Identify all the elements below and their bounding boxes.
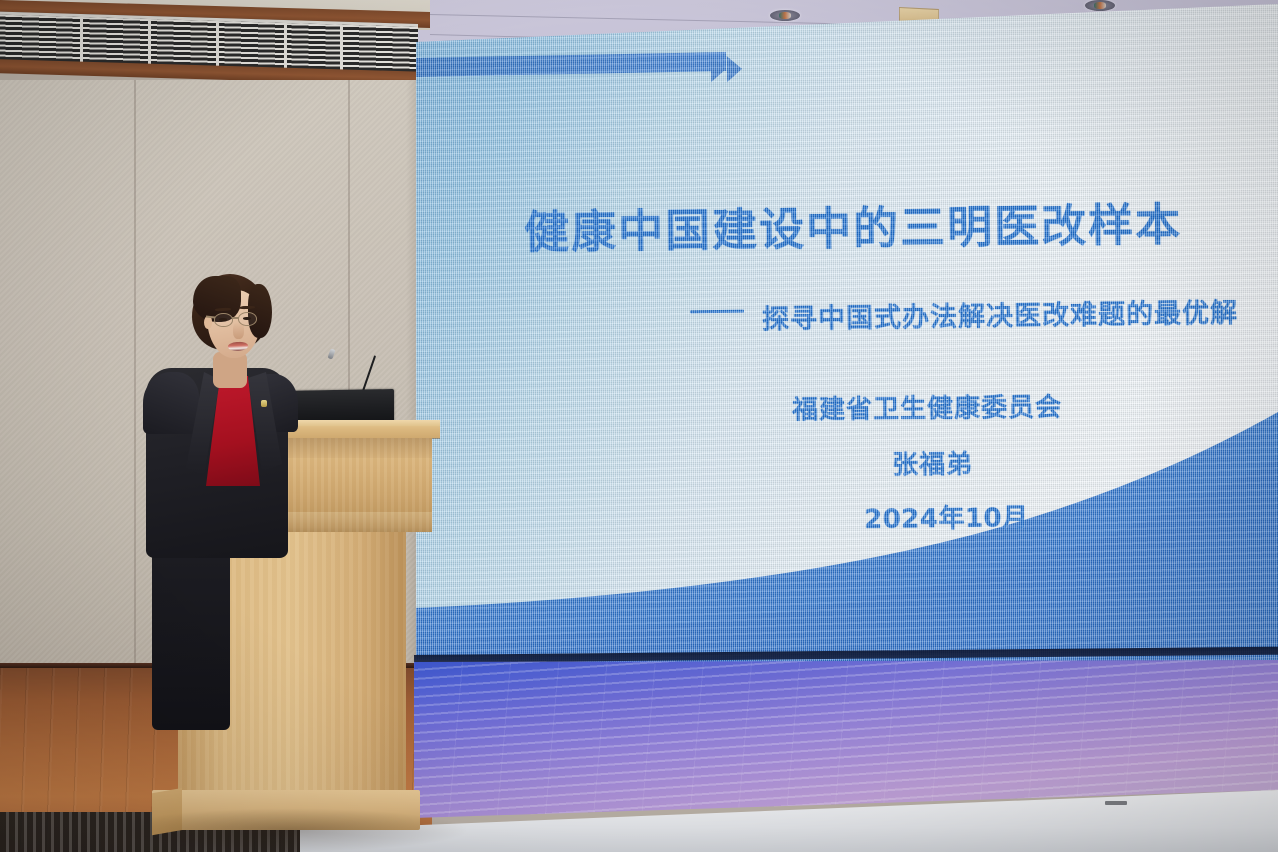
- speaker-hair-back: [248, 284, 272, 338]
- speaker-left-shoulder: [143, 372, 199, 434]
- speaker-eye-left: [219, 318, 227, 321]
- speaker-eye-right: [243, 317, 251, 320]
- presentation-photo-scene: 健康中国建设中的三明医改样本 探寻中国式办法解决医改难题的最优解 福建省卫生健康…: [0, 0, 1278, 852]
- eyeglasses-bridge: [232, 317, 239, 319]
- speaker-ear: [204, 316, 212, 329]
- speaker-lapel-pin: [261, 400, 267, 407]
- speaker-nose: [233, 322, 244, 339]
- speaker: [0, 0, 1278, 852]
